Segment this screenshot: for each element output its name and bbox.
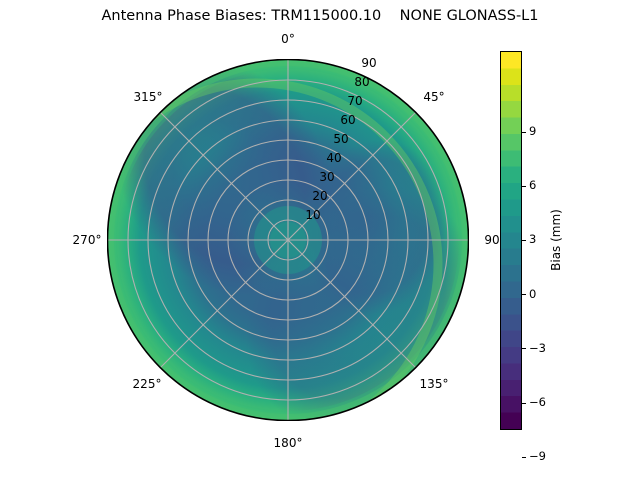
radial-label-90: 90 [361,56,376,70]
polar-axes [107,59,469,421]
radial-label-60: 60 [340,113,355,127]
colorbar-tick-mark [522,403,526,404]
colorbar-tick-label: −9 [529,449,546,464]
angular-label-90: 90 [484,233,499,247]
angular-label-315: 315° [134,90,163,104]
angular-label-270: 270° [73,233,102,247]
colorbar-tick-mark [522,294,526,295]
polar-grid-spokes [107,59,469,421]
colorbar-tick-label: 9 [529,124,536,139]
colorbar-tick-label: −6 [529,395,546,410]
angular-label-180: 180° [274,436,303,450]
page-title: Antenna Phase Biases: TRM115000.10 NONE … [0,8,640,24]
angular-label-135: 135° [420,377,449,391]
angular-label-0: 0° [281,32,295,46]
colorbar-tick-label: −3 [529,341,546,356]
colorbar-axis-label: Bias (mm) [549,209,563,271]
radial-label-50: 50 [333,132,348,146]
colorbar-tick-label: 6 [529,178,536,193]
colorbar-tick-mark [522,457,526,458]
polar-plot-svg [107,59,469,421]
radial-label-30: 30 [319,170,334,184]
colorbar-tick-label: 0 [529,287,536,302]
radial-label-80: 80 [354,75,369,89]
colorbar-tick-mark [522,240,526,241]
radial-label-20: 20 [312,189,327,203]
figure-canvas: Antenna Phase Biases: TRM115000.10 NONE … [0,0,640,480]
angular-label-45: 45° [423,90,444,104]
angular-label-225: 225° [133,377,162,391]
colorbar-tick-label: 3 [529,232,536,247]
colorbar-tick-mark [522,186,526,187]
colorbar-tick-mark [522,348,526,349]
radial-label-40: 40 [326,151,341,165]
colorbar: 9 6 3 0 −3 −6 −9 [500,51,524,431]
radial-label-10: 10 [305,208,320,222]
radial-label-70: 70 [347,94,362,108]
colorbar-tick-mark [522,132,526,133]
colorbar-gradient [500,51,522,430]
